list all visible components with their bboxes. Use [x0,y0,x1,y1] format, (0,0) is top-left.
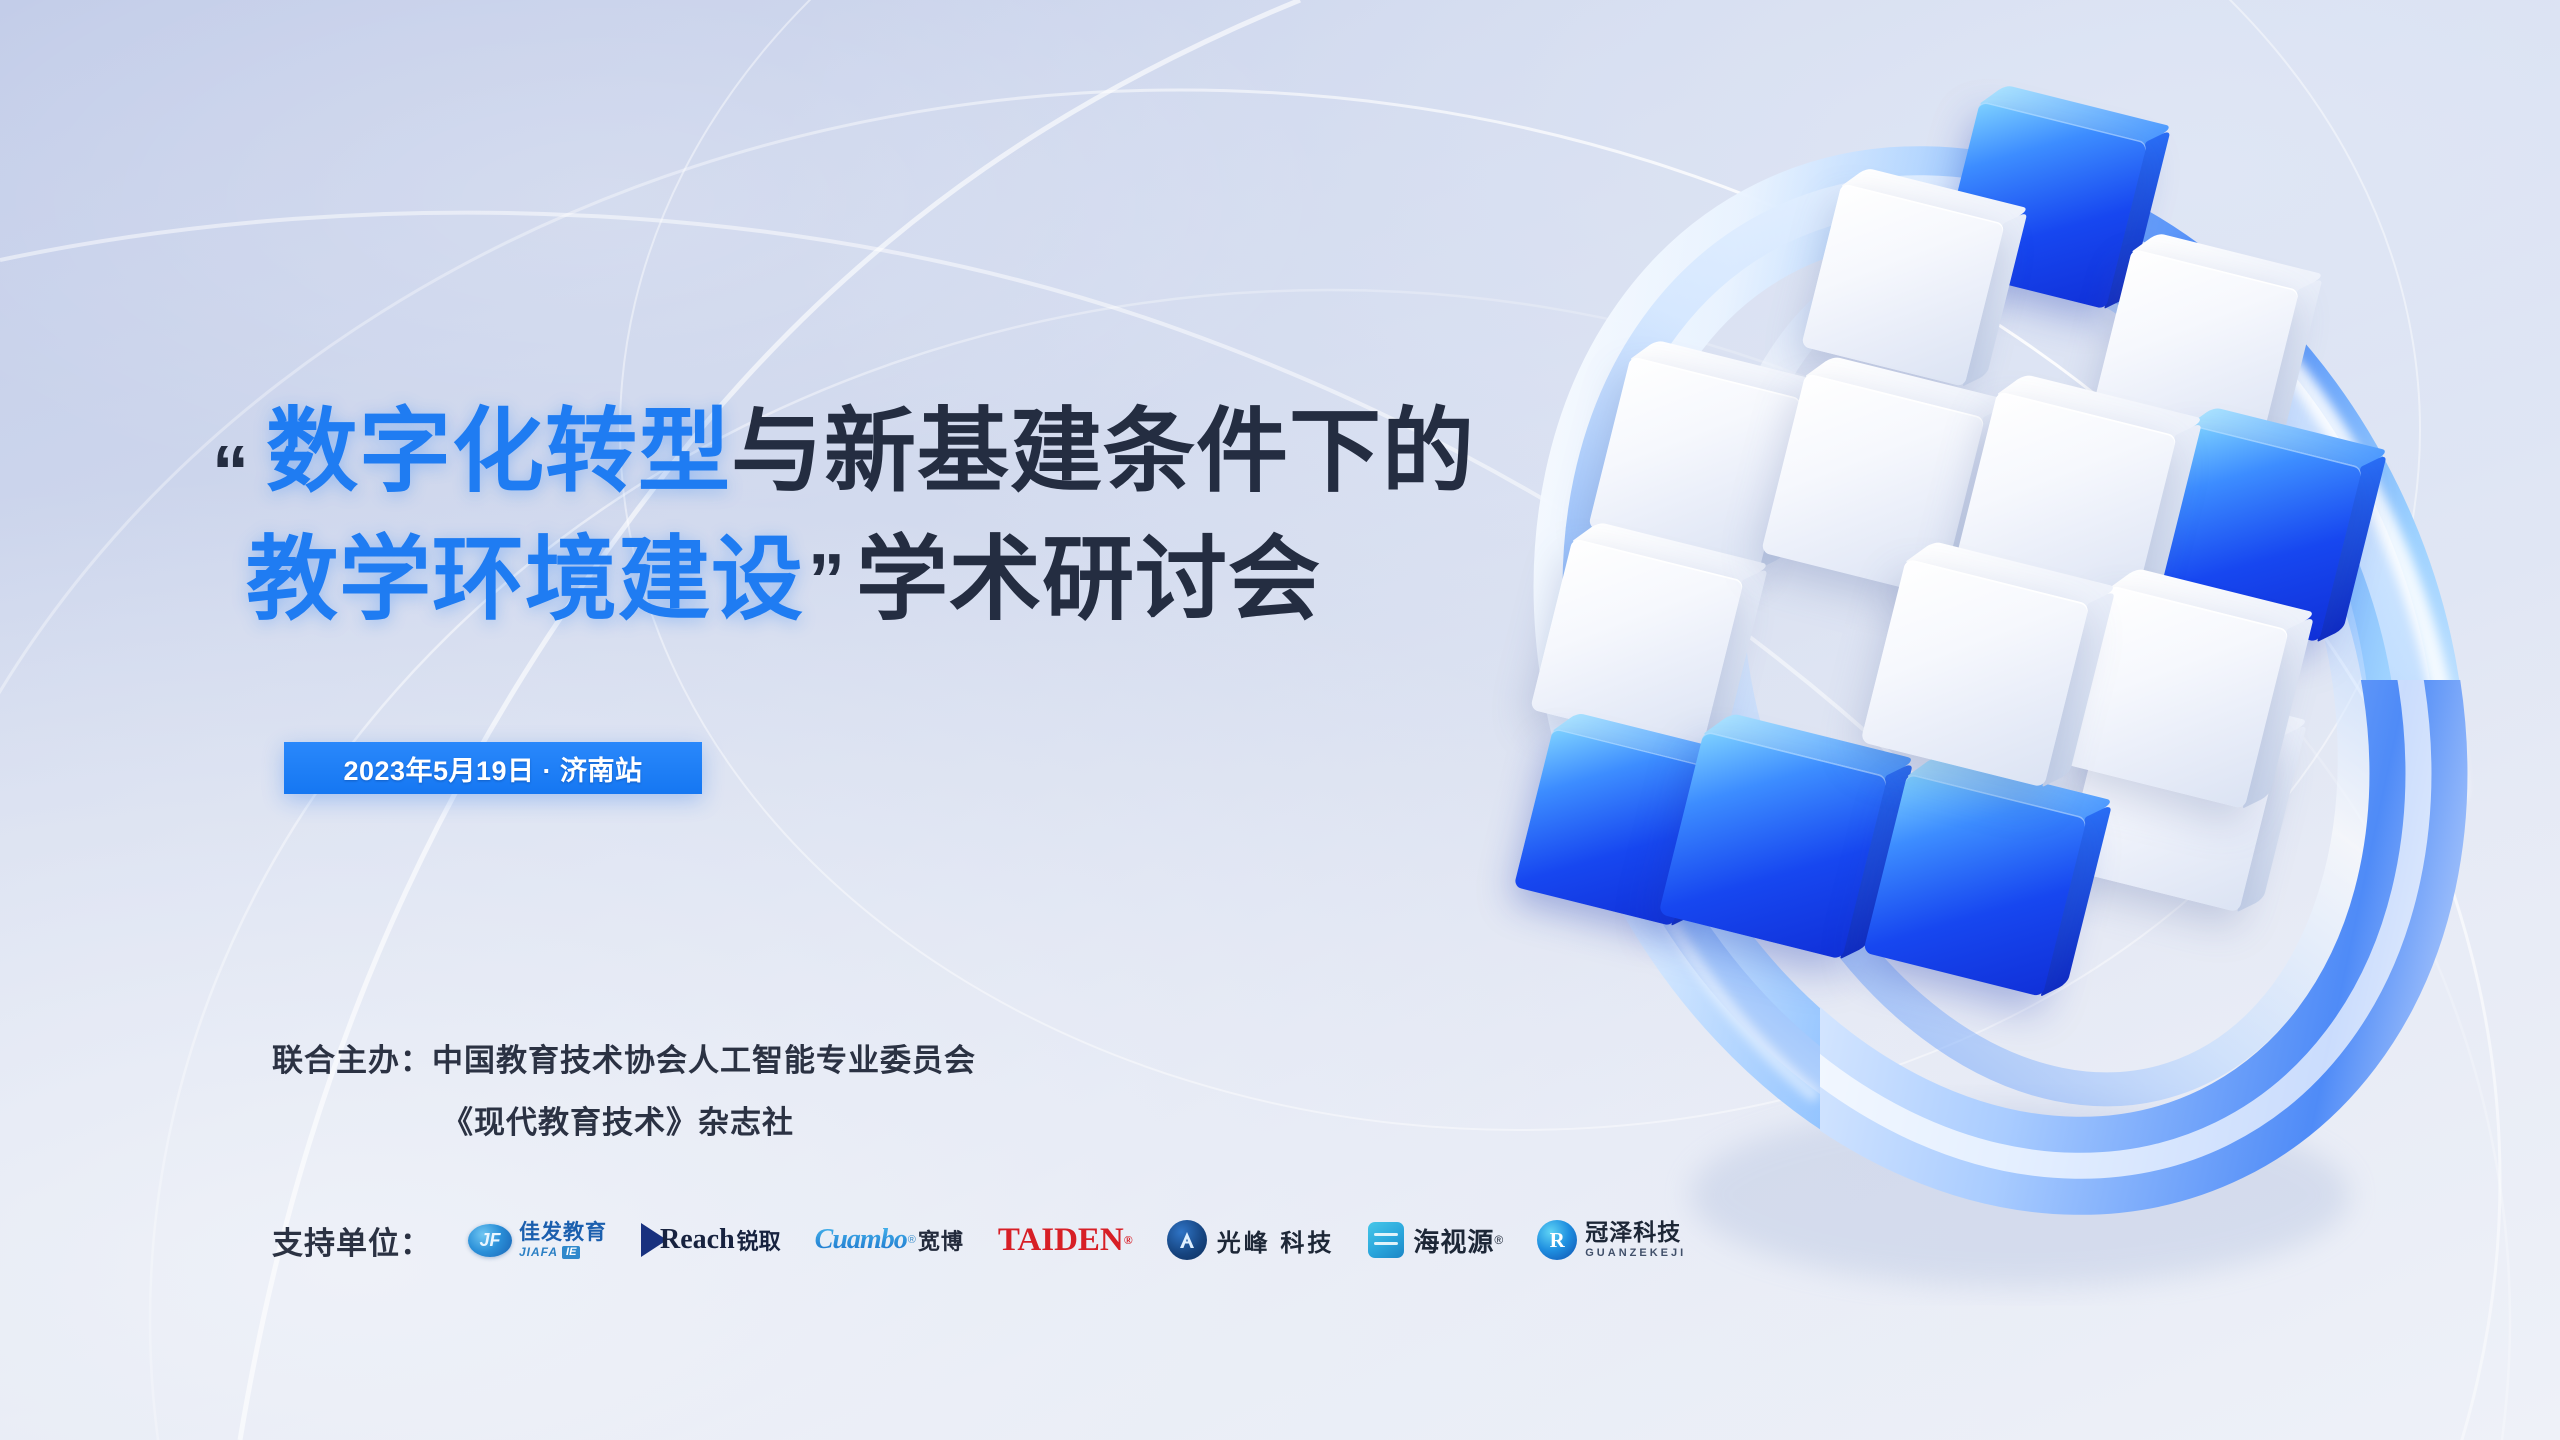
haishiyuan-registered-mark: ® [1494,1233,1503,1247]
taiden-name-en: TAIDEN [998,1222,1124,1259]
appotronics-name-cn: 光峰 科技 [1217,1223,1335,1258]
host-row-2: 《现代教育技术》杂志社 [272,1092,976,1154]
sponsor-logo-jiafa[interactable]: JF 佳发教育 JIAFA IE [468,1216,607,1264]
reach-name-en: Reach [660,1224,735,1256]
sponsor-logo-cuambo[interactable]: Cuambo ® 宽博 [815,1216,964,1264]
glossy-ring-shape [1400,0,2560,1380]
guanze-wordmark: 冠泽科技 GUANZEKEJI [1585,1221,1686,1259]
cube-white-7 [1860,558,2089,787]
sponsor-row: 支持单位： JF 佳发教育 JIAFA IE Reach 锐取 [272,1216,1720,1264]
host-row-1: 联合主办：中国教育技术协会人工智能专业委员会 [272,1030,976,1092]
cube-blue-4 [1658,730,1887,959]
guanze-emblem-icon: R [1537,1220,1577,1260]
cube-white-2 [2091,249,2300,458]
title-line1-rest: 与新基建条件下的 [731,396,1475,508]
sponsor-logo-appotronics[interactable]: 光峰 科技 [1167,1216,1335,1264]
cube-white-3 [1588,356,1802,570]
cube-white-5 [1953,391,2177,615]
cube-blue-3 [1514,728,1713,927]
host-name-1: 中国教育技术协会人工智能专业委员会 [432,1043,976,1078]
host-organizations: 联合主办：中国教育技术协会人工智能专业委员会 《现代教育技术》杂志社 [272,1030,976,1154]
jiafa-monogram: JF [479,1231,500,1249]
cuambo-registered-mark: ® [908,1234,916,1246]
reach-name-cn: 锐取 [737,1224,781,1256]
appotronics-emblem-icon [1167,1220,1207,1260]
title-line2-highlight: 教学环境建设 [246,524,804,636]
sponsor-logo-guanze[interactable]: R 冠泽科技 GUANZEKEJI [1537,1216,1686,1264]
sponsor-logo-reach[interactable]: Reach 锐取 [641,1216,781,1264]
jiafa-name-en-group: JIAFA IE [519,1246,607,1259]
cube-white-8 [2065,585,2289,809]
taiden-registered-mark: ® [1124,1233,1133,1248]
cuambo-name-en: Cuambo [815,1224,907,1256]
cube-blue-2 [2144,424,2363,643]
cube-cluster [1400,0,2560,1380]
guanze-name-cn: 冠泽科技 [1585,1221,1686,1244]
cuambo-name-cn: 宽博 [918,1224,964,1256]
title-line1-highlight: 数字化转型 [266,396,731,508]
hero-3d-artwork [1400,0,2560,1380]
cube-white-9 [2064,694,2283,913]
event-date-text: 2023年5月19日 · 济南站 [343,749,642,788]
sponsors-label: 支持单位： [272,1218,432,1263]
quote-open-mark: “ [212,435,250,509]
cube-white-1 [1801,183,2005,387]
jiafa-name-en: JIAFA [519,1246,558,1258]
cube-blue-5 [1863,773,2087,997]
cube-white-4 [1761,373,1985,597]
jiafa-name-cn: 佳发教育 [519,1222,607,1243]
guanze-monogram: R [1550,1230,1565,1251]
host-name-2: 《现代教育技术》杂志社 [442,1105,794,1140]
host-label: 联合主办： [272,1043,432,1078]
sponsor-logo-taiden[interactable]: TAIDEN ® [998,1216,1133,1264]
cube-blue-1 [1939,101,2148,310]
event-date-badge: 2023年5月19日 · 济南站 [284,742,702,794]
banner-poster: “ 数字化转型 与新基建条件下的 教学环境建设 ” 学术研讨会 2023年5月1… [0,0,2560,1440]
sponsor-logo-haishiyuan[interactable]: 海视源 ® [1368,1216,1503,1264]
text-content-column: “ 数字化转型 与新基建条件下的 教学环境建设 ” 学术研讨会 2023年5月1… [0,0,1450,1440]
jiafa-emblem-icon: JF [468,1224,512,1257]
jiafa-wordmark: 佳发教育 JIAFA IE [519,1222,607,1259]
title-line-2: 教学环境建设 ” 学术研讨会 [212,524,1392,636]
haishiyuan-cube-icon [1368,1222,1404,1258]
cube-white-6 [1530,538,1744,752]
title-line-1: “ 数字化转型 与新基建条件下的 [212,396,1392,508]
title-line2-rest: 学术研讨会 [856,524,1321,636]
jiafa-name-en-badge: IE [562,1246,580,1259]
quote-close-mark: ” [808,543,846,617]
glossy-ring-front-segment [1400,0,2560,1380]
page-title: “ 数字化转型 与新基建条件下的 教学环境建设 ” 学术研讨会 [212,396,1392,636]
haishiyuan-name-cn: 海视源 [1413,1222,1494,1259]
guanze-name-en: GUANZEKEJI [1585,1248,1686,1259]
